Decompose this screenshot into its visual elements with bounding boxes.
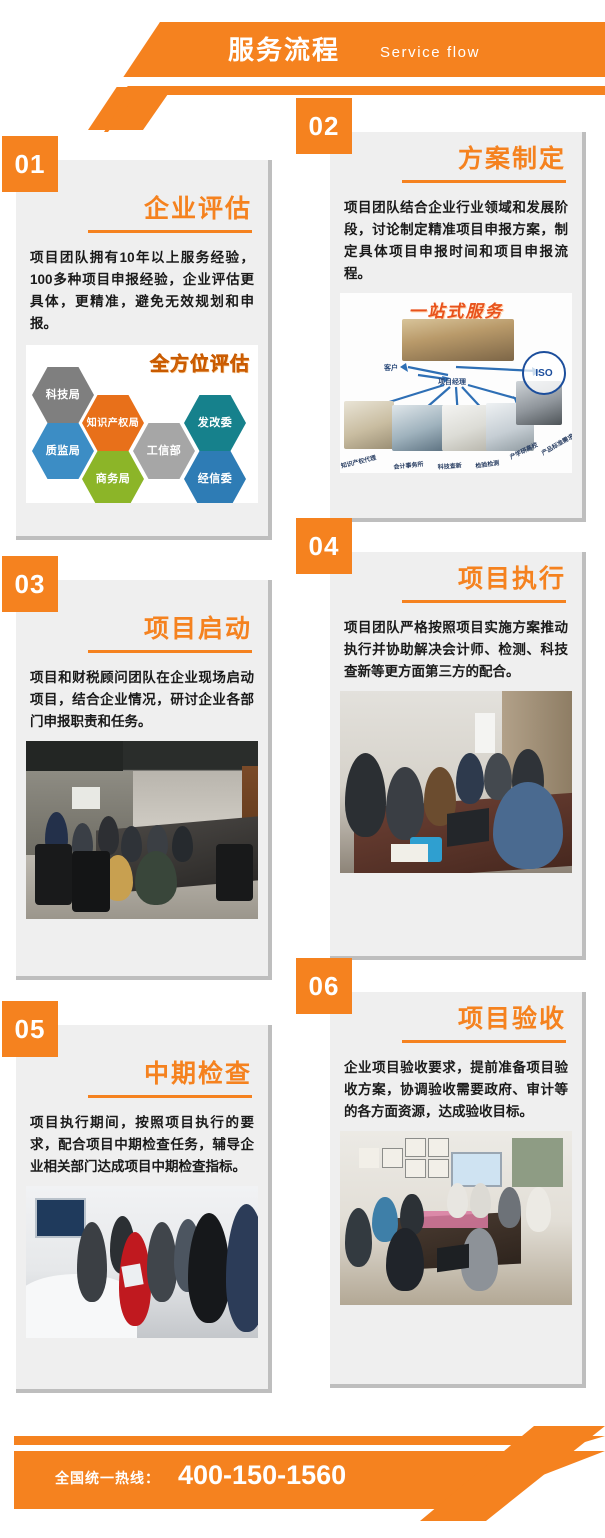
step-body-03: 项目和财税顾问团队在企业现场启动项目，结合企业情况，研讨企业各部门申报职责和任务… bbox=[16, 653, 268, 733]
header-notch bbox=[108, 77, 605, 87]
hex-node-zhishi: 知识产权局 bbox=[82, 395, 144, 451]
photo-06-greenwall bbox=[512, 1138, 563, 1187]
step-card-04[interactable]: 04 项目执行 项目团队严格按照项目实施方案推动执行并协助解决会计师、检测、科技… bbox=[330, 552, 586, 960]
service-label-3: 科技查新 bbox=[437, 460, 462, 471]
step-number-badge-06: 06 bbox=[296, 958, 352, 1014]
step-photo-03 bbox=[26, 741, 258, 919]
service-node-customer: 客户 bbox=[384, 363, 398, 373]
step-card-05[interactable]: 05 中期检查 项目执行期间，按照项目执行的要求，配合项目中期检查任务，辅导企业… bbox=[16, 1025, 272, 1393]
photo-06-person-front-1 bbox=[386, 1228, 423, 1291]
photo-04-person-2 bbox=[386, 767, 423, 840]
service-node-manager: 项目经理 bbox=[438, 377, 466, 387]
hex-node-zhijian: 质监局 bbox=[32, 423, 94, 479]
step-number-badge-01: 01 bbox=[2, 136, 58, 192]
step-card-02[interactable]: 02 方案制定 项目团队结合企业行业领域和发展阶段，讨论制定精准项目申报方案，制… bbox=[330, 132, 586, 522]
page-title: 服务流程 bbox=[228, 34, 340, 66]
step-title-03: 项目启动 bbox=[16, 614, 268, 644]
step-body-02: 项目团队结合企业行业领域和发展阶段，讨论制定精准项目申报方案，制定具体项目申报时… bbox=[330, 183, 582, 285]
step-number-badge-04: 04 bbox=[296, 518, 352, 574]
step-body-05: 项目执行期间，按照项目执行的要求，配合项目中期检查任务，辅导企业相关部门达成项目… bbox=[16, 1098, 268, 1178]
step-photo-06 bbox=[340, 1131, 572, 1305]
photo-06-projection-screen bbox=[451, 1152, 502, 1187]
header-stripe bbox=[116, 86, 605, 95]
step-number-badge-03: 03 bbox=[2, 556, 58, 612]
step-number-badge-05: 05 bbox=[2, 1001, 58, 1057]
hex-diagram-01: 全方位评估 科技局 知识产权局 发改委 质监局 工信部 商务局 经信委 bbox=[26, 345, 258, 503]
step-title-04: 项目执行 bbox=[330, 564, 582, 594]
service-thumb-1 bbox=[344, 401, 394, 449]
step-card-03[interactable]: 03 项目启动 项目和财税顾问团队在企业现场启动项目，结合企业情况，研讨企业各部… bbox=[16, 580, 272, 980]
hex-node-shangwu: 商务局 bbox=[82, 451, 144, 503]
photo-03-chair-1 bbox=[35, 844, 72, 905]
hex-node-gongxin: 工信部 bbox=[133, 423, 195, 479]
photo-03-ceiling bbox=[26, 741, 123, 771]
page-footer: 全国统一热线： 400-150-1560 bbox=[0, 1418, 605, 1538]
hex-node-fagai: 发改委 bbox=[184, 395, 246, 451]
photo-03-person-3 bbox=[98, 816, 119, 855]
step-photo-04 bbox=[340, 691, 572, 873]
photo-05-person-3 bbox=[147, 1222, 177, 1301]
photo-06-laptop bbox=[437, 1244, 469, 1273]
photo-06-person-4 bbox=[447, 1183, 468, 1218]
photo-06-certificate-6 bbox=[428, 1159, 449, 1178]
hex-node-keji: 科技局 bbox=[32, 367, 94, 423]
photo-06-certificate-3 bbox=[405, 1138, 426, 1157]
hex-node-jingxin: 经信委 bbox=[184, 451, 246, 503]
photo-06-person-6 bbox=[498, 1187, 521, 1229]
page-subtitle: Service flow bbox=[380, 44, 480, 62]
service-diagram-02: 一站式服务 bbox=[340, 293, 572, 473]
iso-badge-icon: ISO bbox=[522, 351, 566, 395]
photo-06-person-5 bbox=[470, 1183, 491, 1218]
step-card-01[interactable]: 01 企业评估 项目团队拥有10年以上服务经验，100多种项目申报经验，企业评估… bbox=[16, 160, 272, 540]
photo-03-chair-2 bbox=[72, 851, 109, 912]
step-title-01: 企业评估 bbox=[16, 194, 268, 224]
photo-04-papers bbox=[391, 844, 428, 862]
step-photo-05 bbox=[26, 1186, 258, 1338]
photo-06-certificate-1 bbox=[359, 1148, 380, 1167]
hex-diagram-title: 全方位评估 bbox=[150, 349, 250, 376]
step-title-05: 中期检查 bbox=[16, 1059, 268, 1089]
hotline-number[interactable]: 400-150-1560 bbox=[178, 1459, 346, 1491]
step-title-06: 项目验收 bbox=[330, 1004, 582, 1034]
step-number-badge-02: 02 bbox=[296, 98, 352, 154]
photo-06-certificate-5 bbox=[405, 1159, 426, 1178]
photo-03-chair-3 bbox=[216, 844, 253, 901]
step-body-01: 项目团队拥有10年以上服务经验，100多种项目申报经验，企业评估更具体，更精准，… bbox=[16, 233, 268, 335]
photo-04-laptop bbox=[447, 808, 489, 847]
photo-04-aircon bbox=[475, 713, 496, 753]
step-title-02: 方案制定 bbox=[330, 144, 582, 174]
step-body-06: 企业项目验收要求，提前准备项目验收方案，协调验收需要政府、审计等的各方面资源，达… bbox=[330, 1043, 582, 1123]
hotline-label: 全国统一热线： bbox=[55, 1466, 160, 1490]
service-thumb-3 bbox=[442, 405, 490, 451]
photo-03-person-green bbox=[135, 851, 177, 904]
photo-05-screen bbox=[35, 1198, 86, 1238]
photo-03-person-6 bbox=[172, 826, 193, 862]
photo-06-certificate-4 bbox=[428, 1138, 449, 1157]
photo-04-person-4 bbox=[456, 753, 484, 804]
step-card-06[interactable]: 06 项目验收 企业项目验收要求，提前准备项目验收方案，协调验收需要政府、审计等… bbox=[330, 992, 586, 1388]
service-thumb-2 bbox=[392, 405, 444, 451]
header-band bbox=[130, 22, 605, 77]
step-body-04: 项目团队严格按照项目实施方案推动执行并协助解决会计师、检测、科技查新等更方面第三… bbox=[330, 603, 582, 683]
photo-06-certificate-2 bbox=[382, 1148, 403, 1167]
photo-03-whiteboard bbox=[72, 787, 100, 808]
infographic-page: 服务流程 Service flow 01 企业评估 项目团队拥有10年以上服务经… bbox=[0, 0, 605, 1538]
